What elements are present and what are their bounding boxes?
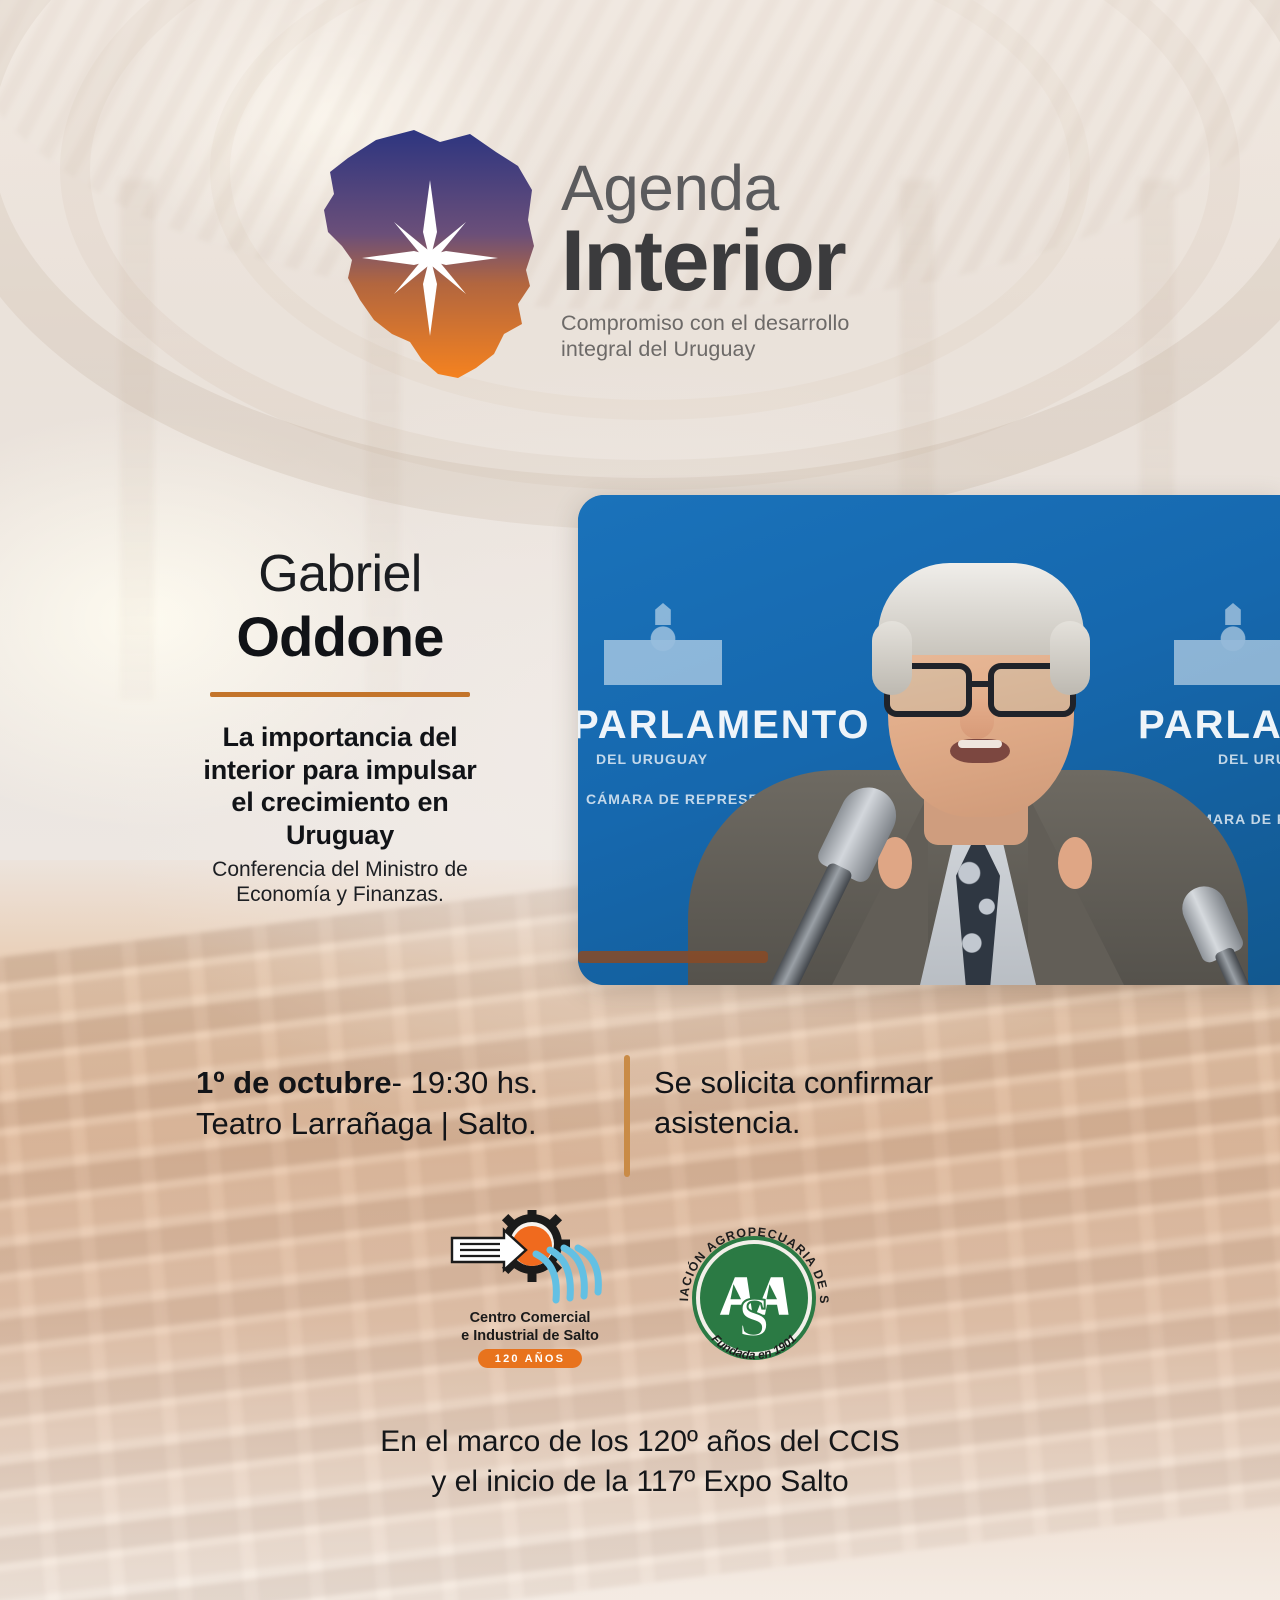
talk-subtitle: Conferencia del Ministro de Economía y F… xyxy=(150,857,530,907)
footer-line1: En el marco de los 120º años del CCIS xyxy=(0,1422,1280,1462)
ccis-name-line1: Centro Comercial xyxy=(440,1310,620,1328)
brand-name-light: Agenda xyxy=(561,158,849,219)
brand-name-bold: Interior xyxy=(561,221,849,302)
talk-title-line4: Uruguay xyxy=(150,819,530,851)
hair xyxy=(878,563,1084,655)
mouth xyxy=(950,739,1010,763)
event-details: 1º de octubre- 19:30 hs. Teatro Larrañag… xyxy=(150,1055,1130,1190)
ccis-anniversary-badge: 120 AÑOS xyxy=(478,1349,582,1368)
rsvp-line1: Se solicita confirmar xyxy=(654,1063,1074,1103)
talk-title-line2: interior para impulsar xyxy=(150,754,530,786)
footer-note: En el marco de los 120º años del CCIS y … xyxy=(0,1422,1280,1501)
mic-stem xyxy=(769,861,854,985)
uruguay-map-compass-icon xyxy=(318,128,543,380)
brand-tagline-line1: Compromiso con el desarrollo xyxy=(561,310,849,336)
glasses-bridge xyxy=(970,681,994,687)
rsvp-note: Se solicita confirmar asistencia. xyxy=(654,1063,1074,1144)
brand-logo: Agenda Interior Compromiso con el desarr… xyxy=(318,128,958,396)
ccis-gear-sun-waves-icon xyxy=(440,1210,620,1308)
speaker-first-name: Gabriel xyxy=(150,548,530,601)
sponsor-logos: Centro Comercial e Industrial de Salto 1… xyxy=(0,1210,1280,1390)
talk-title-line3: el crecimiento en xyxy=(150,786,530,818)
parliament-building-icon-left xyxy=(604,615,722,685)
talk-subtitle-line1: Conferencia del Ministro de xyxy=(150,857,530,882)
ccis-name: Centro Comercial e Industrial de Salto xyxy=(440,1310,620,1345)
speaker-last-name: Oddone xyxy=(150,607,530,666)
speaker-info: Gabriel Oddone La importancia del interi… xyxy=(150,548,530,907)
svg-text:S: S xyxy=(738,1287,769,1349)
event-poster: Agenda Interior Compromiso con el desarr… xyxy=(0,0,1280,1600)
event-date: 1º de octubre xyxy=(196,1065,392,1100)
sponsor-aas: S ·ASOCIACIÓN AGROPECUARIA DE SALTO· Fun… xyxy=(668,1210,840,1382)
date-separator: - xyxy=(392,1065,402,1100)
aas-circular-emblem-icon: S ·ASOCIACIÓN AGROPECUARIA DE SALTO· Fun… xyxy=(668,1210,840,1382)
speaker-figure xyxy=(728,515,1198,985)
talk-title-line1: La importancia del xyxy=(150,721,530,753)
event-date-time: 1º de octubre- 19:30 hs. xyxy=(196,1063,616,1104)
ccis-name-line2: e Industrial de Salto xyxy=(440,1328,620,1346)
sponsor-ccis: Centro Comercial e Industrial de Salto 1… xyxy=(440,1210,620,1380)
backdrop-subtext-right: DEL URUGUAY xyxy=(1218,751,1280,767)
footer-line2: y el inicio de la 117º Expo Salto xyxy=(0,1462,1280,1502)
event-datetime-venue: 1º de octubre- 19:30 hs. Teatro Larrañag… xyxy=(196,1063,616,1145)
talk-title: La importancia del interior para impulsa… xyxy=(150,721,530,851)
speaker-photo: PARLAMENTO DEL URUGUAY CÁMARA DE REPRESE… xyxy=(578,495,1280,985)
vertical-divider xyxy=(624,1055,630,1177)
brand-tagline-line2: integral del Uruguay xyxy=(561,336,849,362)
talk-subtitle-line2: Economía y Finanzas. xyxy=(150,882,530,907)
brand-wordmark: Agenda Interior Compromiso con el desarr… xyxy=(561,128,849,362)
event-time: 19:30 hs. xyxy=(411,1065,539,1100)
accent-divider xyxy=(210,692,470,697)
rsvp-line2: asistencia. xyxy=(654,1103,1074,1143)
backdrop-subtext-left: DEL URUGUAY xyxy=(596,751,708,767)
desk-edge xyxy=(578,951,768,963)
event-venue: Teatro Larrañaga | Salto. xyxy=(196,1104,616,1145)
ear-right xyxy=(1058,837,1092,889)
mic-stem xyxy=(1214,946,1269,985)
brand-tagline: Compromiso con el desarrollo integral de… xyxy=(561,310,849,362)
